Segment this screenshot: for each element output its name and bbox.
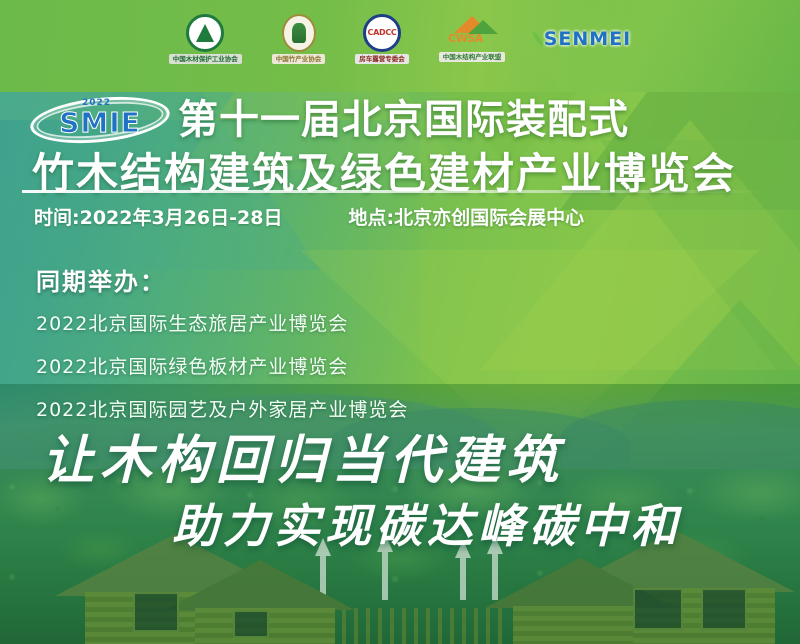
sponsor-name: 房车露营专委会 bbox=[355, 54, 409, 65]
cadcc-emblem-icon: CADCC bbox=[363, 14, 401, 52]
event-meta: 时间:2022年3月26日-28日 地点:北京亦创国际会展中心 bbox=[34, 203, 774, 230]
smie-wordmark: SMIE bbox=[30, 106, 170, 139]
list-item: 2022北京国际绿色板材产业博览会 bbox=[36, 352, 408, 379]
senmei-wordmark: SENMEI bbox=[544, 28, 632, 50]
sponsor-logo-5: SENMEI SENMEI bbox=[535, 24, 631, 54]
exhibition-poster: 中国木材保护工业协会 中国竹产业协会 CADCC 房车露营专委会 CWSA 中国… bbox=[0, 0, 800, 644]
bamboo-emblem-icon bbox=[282, 14, 316, 52]
smie-logo: 2022 SMIE bbox=[30, 96, 170, 144]
cwsa-house-icon: CWSA bbox=[446, 16, 498, 50]
header-divider bbox=[22, 190, 762, 193]
sponsor-logo-2: 中国竹产业协会 bbox=[272, 14, 326, 65]
page-title-line1: 第十一届北京国际装配式 bbox=[178, 100, 629, 140]
cwsa-acronym: CWSA bbox=[448, 32, 483, 45]
sponsor-name: 中国竹产业协会 bbox=[272, 54, 326, 65]
concurrent-heading: 同期举办： bbox=[36, 262, 408, 297]
leaf-shape bbox=[533, 30, 544, 47]
sponsor-logo-3: CADCC 房车露营专委会 bbox=[355, 14, 409, 65]
sponsor-logo-row: 中国木材保护工业协会 中国竹产业协会 CADCC 房车露营专委会 CWSA 中国… bbox=[0, 8, 800, 70]
title-first-row: 2022 SMIE 第十一届北京国际装配式 bbox=[0, 92, 800, 148]
pine-tree-emblem-icon bbox=[186, 14, 224, 52]
event-venue: 地点:北京亦创国际会展中心 bbox=[348, 203, 584, 230]
sponsor-name: 中国木材保护工业协会 bbox=[169, 54, 242, 65]
sponsor-logo-1: 中国木材保护工业协会 bbox=[169, 14, 242, 65]
slogan-line2: 助力实现碳达峰碳中和 bbox=[172, 490, 682, 556]
title-block: 2022 SMIE 第十一届北京国际装配式 竹木结构建筑及绿色建材产业博览会 bbox=[0, 92, 800, 196]
concurrent-events: 同期举办： 2022北京国际生态旅居产业博览会 2022北京国际绿色板材产业博览… bbox=[36, 262, 408, 438]
senmei-leaf-icon: SENMEI bbox=[535, 24, 631, 54]
concurrent-list: 2022北京国际生态旅居产业博览会 2022北京国际绿色板材产业博览会 2022… bbox=[36, 309, 408, 422]
slogan-line1: 让木构回归当代建筑 bbox=[42, 418, 564, 493]
list-item: 2022北京国际生态旅居产业博览会 bbox=[36, 309, 408, 336]
sponsor-logo-4: CWSA 中国木结构产业联盟 bbox=[439, 16, 506, 63]
sponsor-name: 中国木结构产业联盟 bbox=[439, 52, 506, 63]
event-date: 时间:2022年3月26日-28日 bbox=[34, 203, 282, 230]
cadcc-acronym: CADCC bbox=[368, 28, 397, 37]
